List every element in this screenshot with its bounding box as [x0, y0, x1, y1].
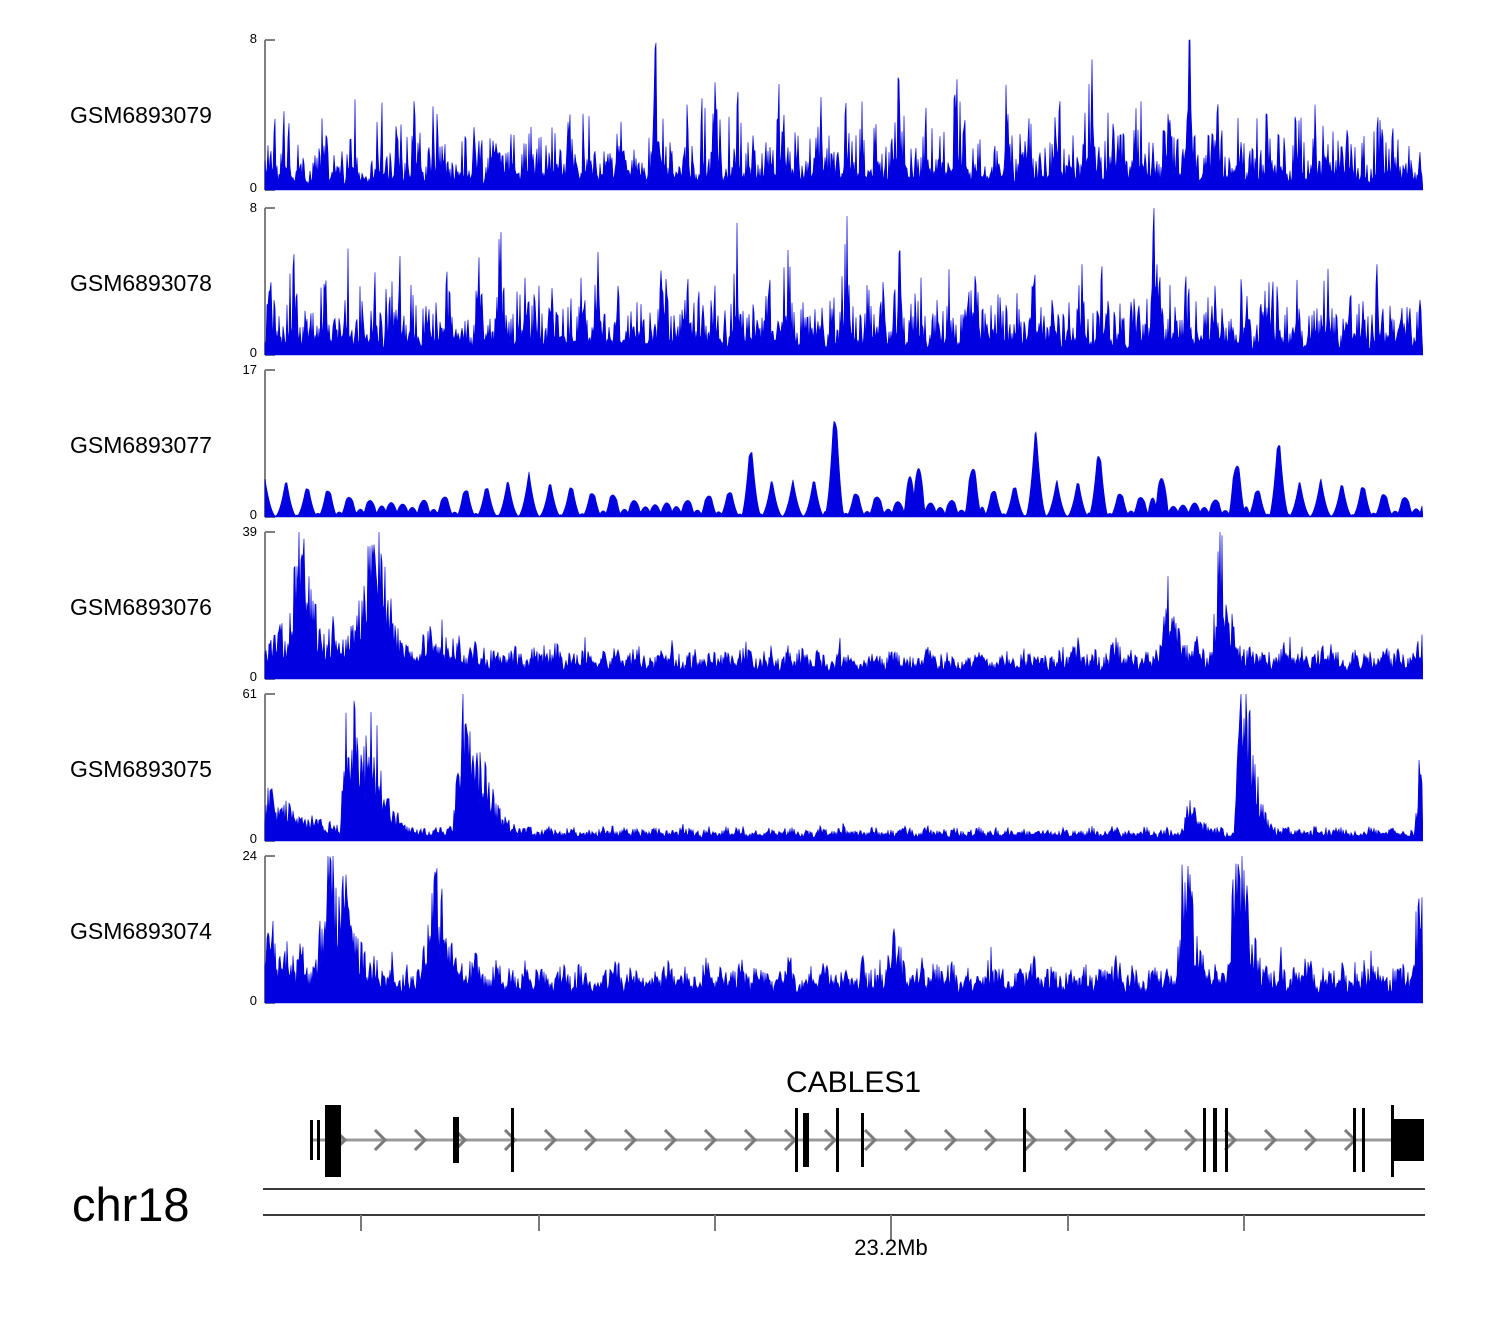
axis-max-label: 39	[243, 524, 257, 539]
signal-path	[265, 856, 1423, 1003]
exon-cds	[1353, 1108, 1356, 1172]
track-label: GSM6893078	[70, 270, 245, 297]
axis-max-label: 8	[250, 200, 257, 215]
chromosome-label: chr18	[72, 1177, 190, 1232]
exon-cds	[325, 1105, 341, 1177]
exon-cds	[453, 1117, 459, 1163]
exon-cds	[795, 1108, 798, 1172]
exon-cds	[1213, 1108, 1217, 1172]
track-plot	[263, 811, 1423, 1011]
axis-max-label: 17	[243, 362, 257, 377]
track-label: GSM6893076	[70, 594, 245, 621]
track-label: GSM6893077	[70, 432, 245, 459]
axis-max-label: 61	[243, 686, 257, 701]
exon-cds	[836, 1108, 839, 1172]
genome-browser: GSM6893079 8 0 GSM6893078 8 0 GSM6893077…	[0, 0, 1500, 1320]
exon-cds	[861, 1113, 864, 1167]
axis-min-label: 0	[250, 993, 257, 1008]
exon-cds	[1203, 1108, 1206, 1172]
track-label: GSM6893079	[70, 102, 245, 129]
exon-utr	[310, 1120, 313, 1160]
axis-max-label: 24	[243, 848, 257, 863]
exon-utr	[317, 1120, 320, 1160]
exon-cds	[1225, 1108, 1228, 1172]
exon-cds	[1023, 1108, 1026, 1172]
exon-cds	[511, 1108, 514, 1172]
exon-terminal	[1394, 1119, 1424, 1161]
signal-area	[265, 856, 1423, 1003]
coverage-track: GSM6893074 24 0	[0, 811, 1500, 1011]
track-label: GSM6893075	[70, 756, 245, 783]
axis-max-label: 8	[250, 31, 257, 46]
exon-cds	[1391, 1105, 1394, 1177]
track-label: GSM6893074	[70, 918, 245, 945]
gene-model-track[interactable]	[263, 1095, 1433, 1190]
coordinate-label: 23.2Mb	[791, 1235, 991, 1261]
exon-cds	[1362, 1108, 1365, 1172]
exon-cds	[803, 1113, 809, 1167]
